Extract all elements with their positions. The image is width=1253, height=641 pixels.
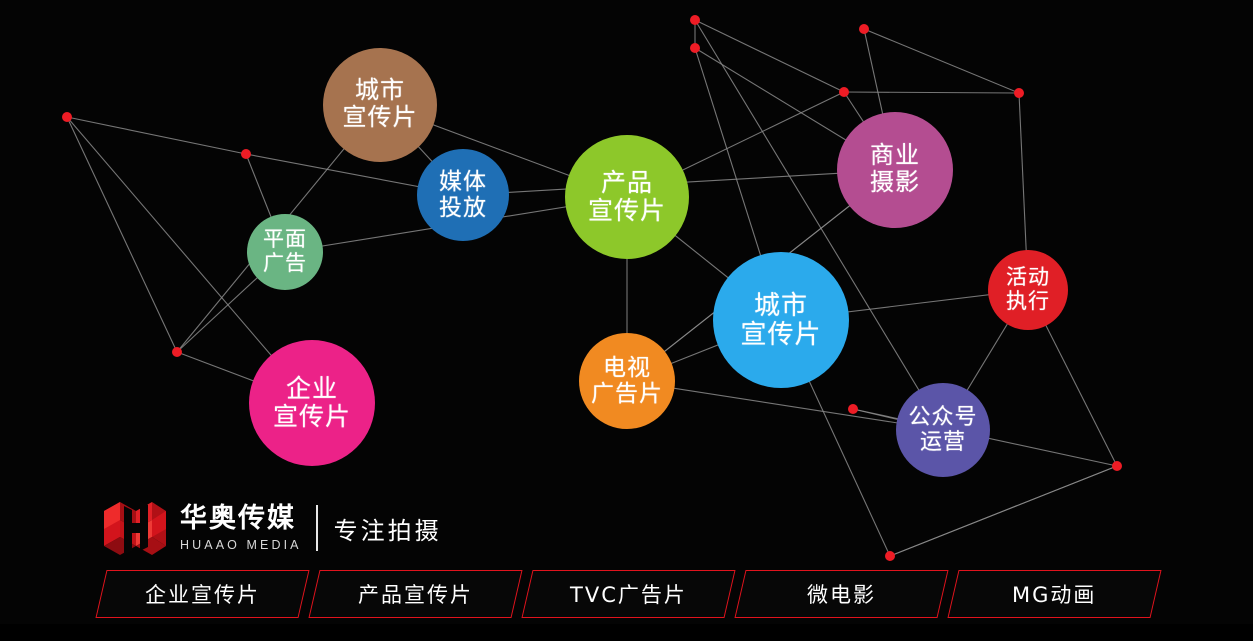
tab-mg-animation[interactable]: MG动画	[947, 570, 1161, 618]
network-link	[890, 466, 1117, 556]
network-links	[67, 20, 1117, 556]
network-nodes	[62, 15, 1122, 561]
bubble-commercial-photography[interactable]: 商业摄影	[837, 112, 953, 228]
huaao-h-monogram-icon	[100, 493, 168, 563]
tab-label: 产品宣传片	[358, 579, 473, 609]
network-link	[67, 117, 177, 352]
bubble-label-line: 产品	[601, 169, 653, 197]
brand-divider	[316, 505, 318, 551]
bubble-label-line: 执行	[1006, 290, 1050, 314]
tab-product-promo[interactable]: 产品宣传片	[308, 570, 522, 618]
network-node[interactable]	[690, 15, 700, 25]
bubble-corporate-promo-film[interactable]: 企业宣传片	[249, 340, 375, 466]
network-link	[844, 92, 1019, 93]
infographic-canvas: 城市宣传片媒体投放平面广告产品宣传片商业摄影活动执行城市宣传片电视广告片企业宣传…	[0, 0, 1253, 641]
bubble-label-line: 电视	[603, 355, 651, 381]
bubble-label-line: 广告	[263, 252, 307, 276]
brand-slogan: 专注拍摄	[334, 511, 442, 546]
brand-name-cn: 华奥传媒	[180, 505, 302, 532]
bubble-label-line: 城市	[355, 78, 405, 105]
bubble-label-line: 宣传片	[343, 105, 418, 132]
bubble-product-promo-film[interactable]: 产品宣传片	[565, 135, 689, 259]
bubble-print-advertising[interactable]: 平面广告	[247, 214, 323, 290]
bubble-label-line: 投放	[439, 195, 487, 221]
bubble-label-line: 媒体	[439, 169, 487, 195]
bubble-media-placement[interactable]: 媒体投放	[417, 149, 509, 241]
brand-lockup: 华奥传媒 HUAAO MEDIA 专注拍摄	[100, 492, 442, 564]
bubble-label-line: 平面	[263, 228, 307, 252]
bubble-label-line: 商业	[870, 143, 920, 170]
tab-label: 微电影	[807, 579, 876, 609]
bubble-label-line: 城市	[754, 291, 808, 320]
brand-name-en: HUAAO MEDIA	[180, 539, 302, 552]
bubble-label-line: 企业	[286, 375, 338, 403]
bubble-label-line: 运营	[920, 430, 966, 455]
network-node[interactable]	[1014, 88, 1024, 98]
bubble-label-line: 公众号	[908, 405, 977, 430]
network-node[interactable]	[859, 24, 869, 34]
network-node[interactable]	[839, 87, 849, 97]
bubble-label-line: 宣传片	[740, 320, 821, 349]
network-node[interactable]	[1112, 461, 1122, 471]
bubble-event-execution[interactable]: 活动执行	[988, 250, 1068, 330]
bubble-city-promo-film-top[interactable]: 城市宣传片	[323, 48, 437, 162]
bubble-city-promo-film-main[interactable]: 城市宣传片	[713, 252, 849, 388]
network-node[interactable]	[62, 112, 72, 122]
tab-label: 企业宣传片	[145, 579, 260, 609]
bubble-tv-commercial[interactable]: 电视广告片	[579, 333, 675, 429]
tab-micro-film[interactable]: 微电影	[734, 570, 948, 618]
network-node[interactable]	[690, 43, 700, 53]
tab-corporate-promo[interactable]: 企业宣传片	[95, 570, 309, 618]
category-tab-bar: 企业宣传片产品宣传片TVC广告片微电影MG动画	[0, 566, 1253, 624]
bubble-label-line: 宣传片	[273, 403, 351, 431]
tab-label: MG动画	[1012, 579, 1096, 609]
bubble-label-line: 广告片	[591, 381, 663, 407]
tab-tvc[interactable]: TVC广告片	[521, 570, 735, 618]
network-link	[864, 29, 1019, 93]
network-node[interactable]	[848, 404, 858, 414]
tab-label: TVC广告片	[570, 579, 687, 609]
network-node[interactable]	[172, 347, 182, 357]
bubble-label-line: 摄影	[870, 170, 920, 197]
bubble-label-line: 活动	[1006, 266, 1050, 290]
network-node[interactable]	[885, 551, 895, 561]
network-node[interactable]	[241, 149, 251, 159]
tab-bar-base	[0, 624, 1253, 641]
bubble-wechat-operation[interactable]: 公众号运营	[896, 383, 990, 477]
bubble-label-line: 宣传片	[588, 197, 666, 225]
